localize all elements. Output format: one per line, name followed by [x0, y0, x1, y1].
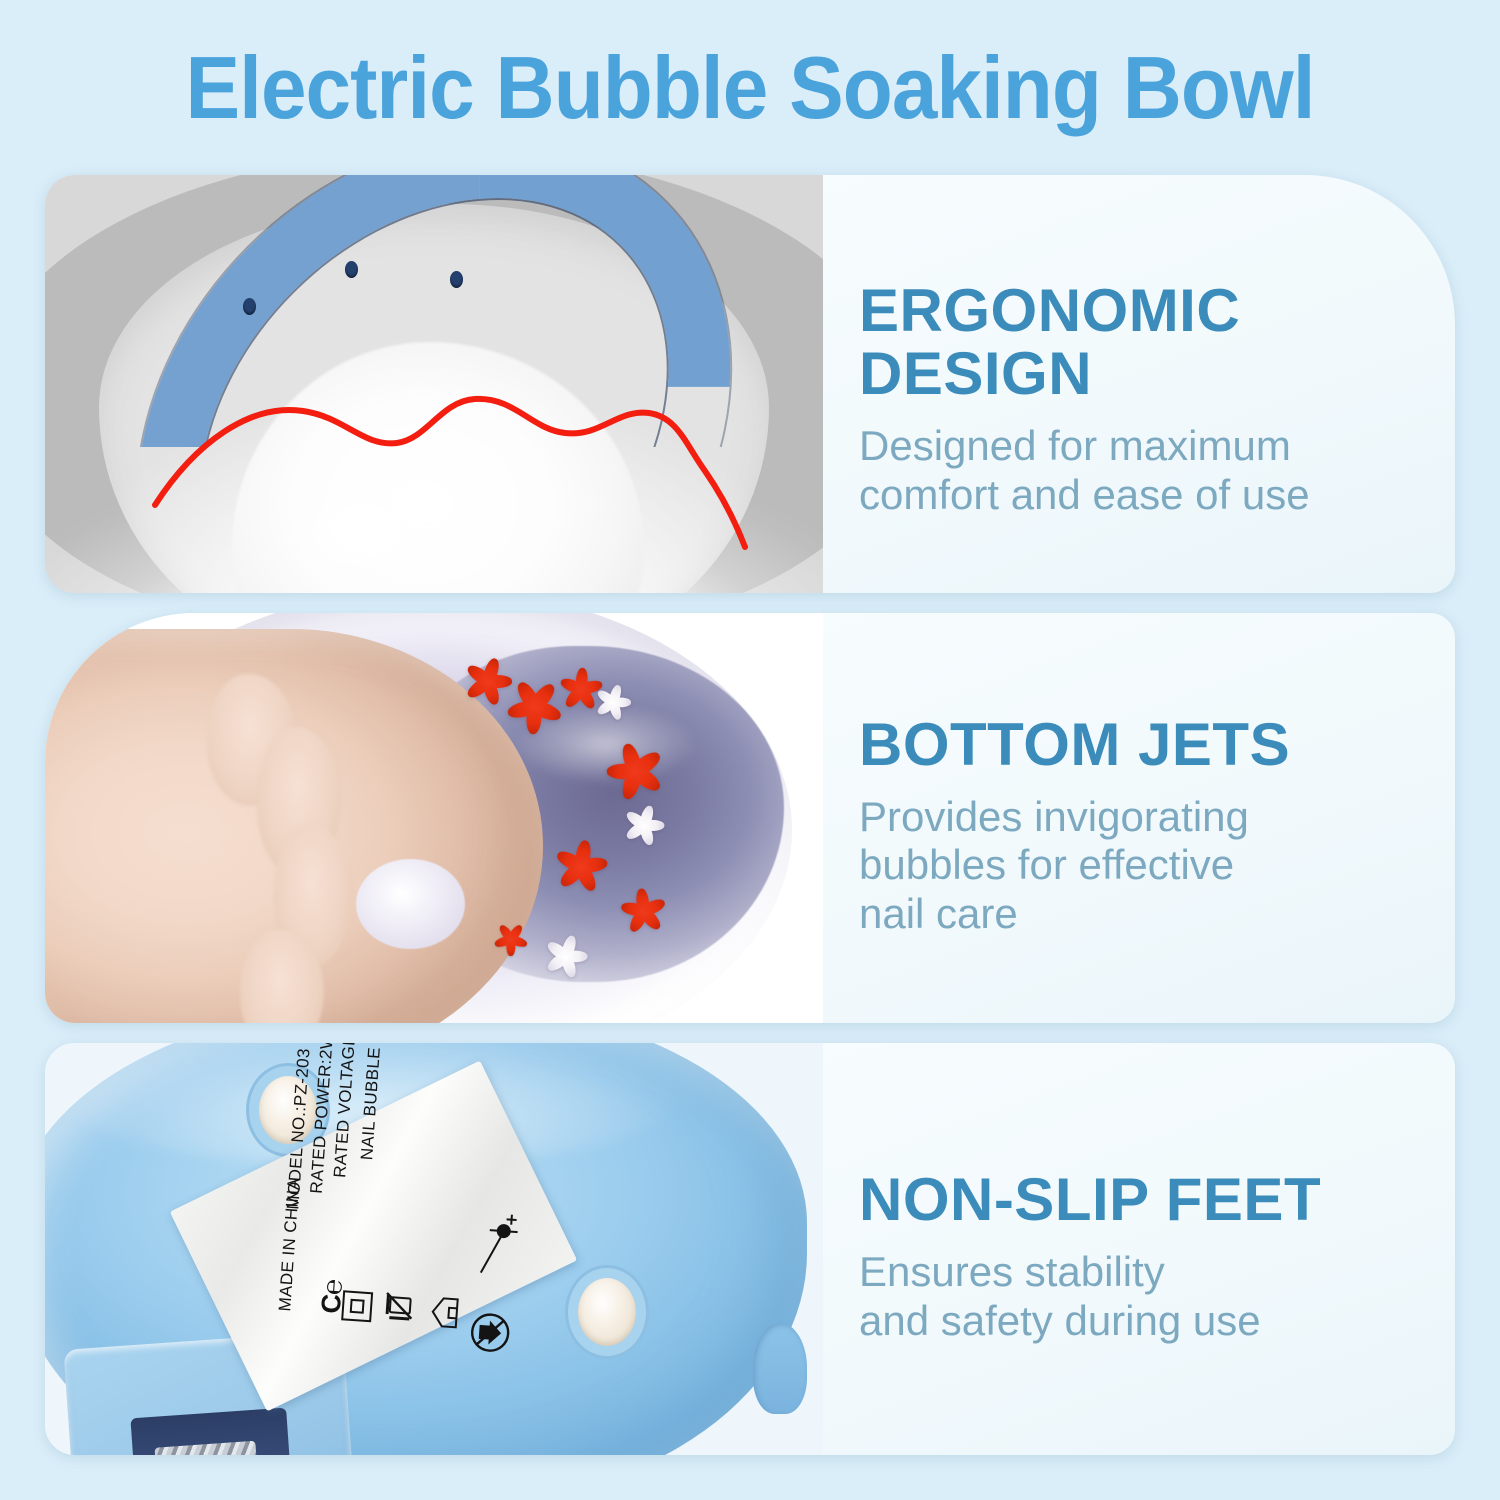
photo-ergonomic-design: [45, 175, 823, 593]
non-slip-foot: [578, 1278, 636, 1346]
double-insulation-icon: [341, 1291, 373, 1323]
bowl-edge-notch: [753, 1323, 807, 1414]
battery-polarity-icon: [474, 1211, 518, 1278]
feature-heading: ERGONOMIC DESIGN: [859, 279, 1415, 406]
feature-row-bottom-jets: BOTTOM JETS Provides invigorating bubble…: [45, 613, 1455, 1023]
photo-stage: [45, 175, 823, 593]
feature-heading: NON-SLIP FEET: [859, 1168, 1415, 1232]
feature-description: Provides invigorating bubbles for effect…: [859, 793, 1415, 939]
text-card-non-slip-feet: NON-SLIP FEET Ensures stability and safe…: [823, 1043, 1455, 1455]
feature-row-non-slip-feet: NAIL BUBBLE SPA RATED VOLTAGE:3VDC RATED…: [45, 1043, 1455, 1455]
feature-row-ergonomic-design: ERGONOMIC DESIGN Designed for maximum co…: [45, 175, 1455, 593]
feature-description: Ensures stability and safety during use: [859, 1248, 1415, 1345]
weee-crossed-bin-icon: [381, 1290, 417, 1322]
photo-bottom-jets: [45, 613, 823, 1023]
text-card-bottom-jets: BOTTOM JETS Provides invigorating bubble…: [823, 613, 1455, 1023]
page-title: Electric Bubble Soaking Bowl: [53, 44, 1448, 132]
bowl-inner-ridge: [356, 859, 465, 949]
wrist-rest-hole-icon: [345, 261, 358, 278]
bowl-gloss-highlight: [286, 476, 442, 585]
feature-heading: BOTTOM JETS: [859, 713, 1415, 777]
photo-stage: [45, 613, 823, 1023]
flower-petal-icon: [595, 684, 630, 719]
photo-non-slip-feet: NAIL BUBBLE SPA RATED VOLTAGE:3VDC RATED…: [45, 1043, 823, 1455]
wrist-rest-hole-icon: [450, 271, 463, 288]
flower-petal-icon: [624, 805, 663, 844]
flower-petal-icon: [545, 935, 586, 976]
indoor-use-house-icon: [428, 1295, 460, 1331]
wrist-rest-sheen: [107, 175, 761, 447]
flower-petal-icon: [553, 837, 610, 894]
text-card-ergonomic-design: ERGONOMIC DESIGN Designed for maximum co…: [823, 175, 1455, 593]
label-made-in: MADE IN CHINA: [275, 1178, 304, 1313]
feature-description: Designed for maximum comfort and ease of…: [859, 422, 1415, 519]
do-not-immerse-icon: [467, 1311, 512, 1356]
wrist-rest-region: [107, 175, 761, 447]
flower-petal-icon: [465, 658, 511, 704]
photo-stage: NAIL BUBBLE SPA RATED VOLTAGE:3VDC RATED…: [45, 1043, 823, 1455]
